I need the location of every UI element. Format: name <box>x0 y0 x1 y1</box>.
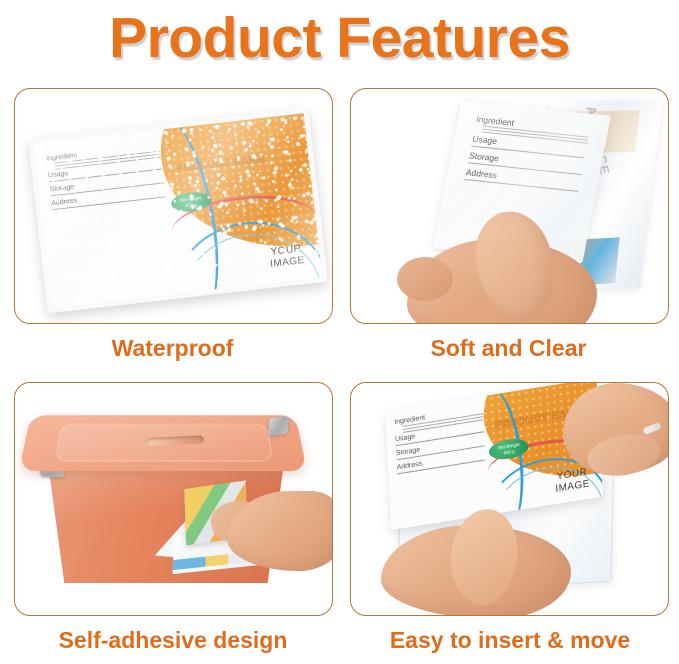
scene-self-adhesive <box>15 383 332 615</box>
scene-easy-insert: PRODUCT NAME Net Weight 650 g YOUR IMAGE… <box>351 383 668 615</box>
feature-panel-waterproof: PRODUCT NAME Net Weight 650 g YOUR IMAGE… <box>14 88 333 324</box>
card-field-list: Ingredient Usage Storage Address <box>394 406 488 520</box>
caption-waterproof: Waterproof <box>14 333 331 363</box>
card-inner: PRODUCT NAME Net Weight 650 g YOUR IMAGE… <box>34 113 323 308</box>
caption-easy-insert: Easy to insert & move <box>345 625 675 655</box>
card-field-list: Ingredient Usage Storage Address <box>46 143 175 294</box>
scene-waterproof: PRODUCT NAME Net Weight 650 g YOUR IMAGE… <box>15 89 332 323</box>
card-field-list: Ingredient Usage Storage Address <box>464 114 591 196</box>
label-card-waterproof: PRODUCT NAME Net Weight 650 g YOUR IMAGE… <box>28 108 328 314</box>
scene-soft-and-clear: ADVANCE Ingredient Usage Storage Address <box>351 89 668 323</box>
feature-panel-easy-insert: PRODUCT NAME Net Weight 650 g YOUR IMAGE… <box>350 382 669 616</box>
product-features-infographic: Product Features PRODUCT NAME Net Weight <box>0 0 679 664</box>
page-title: Product Features <box>0 4 679 72</box>
box-latch-right <box>268 416 288 436</box>
feature-panel-self-adhesive <box>14 382 333 616</box>
caption-soft-and-clear: Soft and Clear <box>350 333 667 363</box>
storage-box-lid <box>19 415 307 471</box>
image-placeholder: YOUR IMAGE <box>268 244 305 272</box>
caption-self-adhesive: Self-adhesive design <box>8 625 338 655</box>
feature-panel-soft-and-clear: ADVANCE Ingredient Usage Storage Address <box>350 88 669 324</box>
hand-finger <box>397 257 453 301</box>
